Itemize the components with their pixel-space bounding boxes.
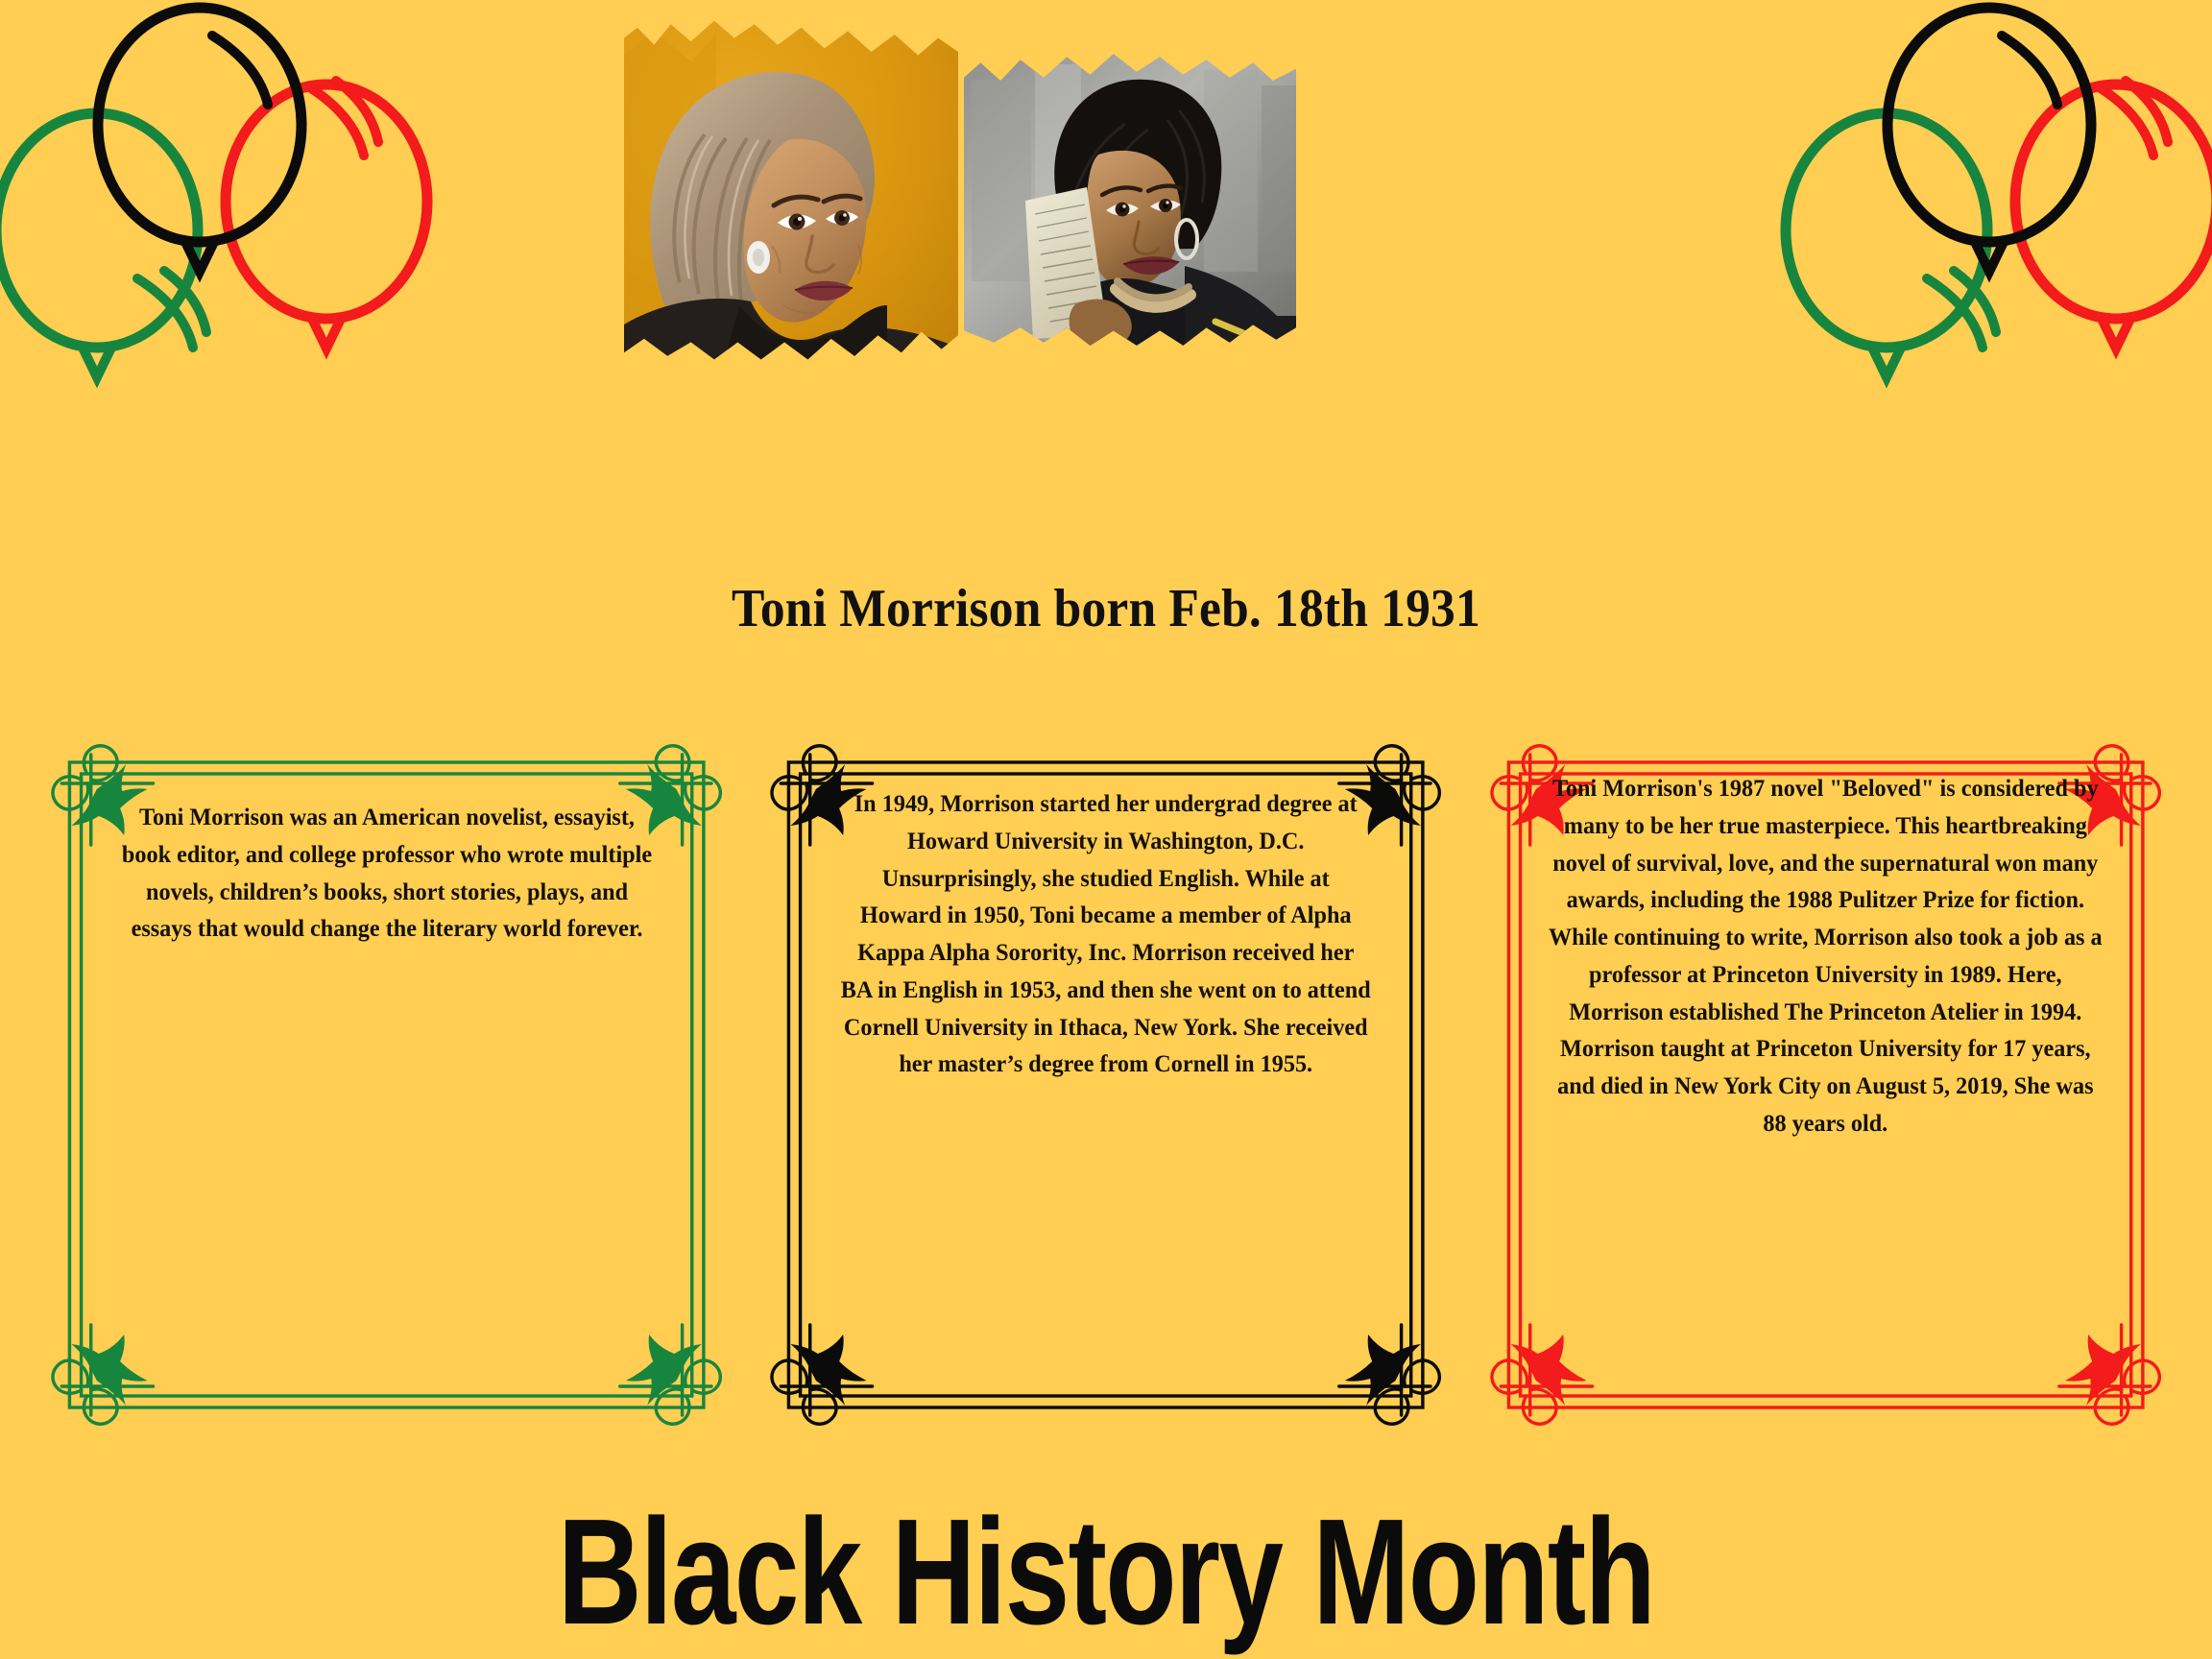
info-box-row: Toni Morrison was an American novelist, … [36, 730, 2176, 1440]
page-title: Toni Morrison born Feb. 18th 1931 [88, 578, 2124, 639]
banner-title: Black History Month [199, 1498, 2012, 1648]
info-box-text: Toni Morrison's 1987 novel "Beloved" is … [1546, 770, 2104, 1142]
balloon-cluster-left [0, 0, 440, 451]
info-box-beloved-legacy: Toni Morrison's 1987 novel "Beloved" is … [1476, 730, 2176, 1440]
info-box-text: Toni Morrison was an American novelist, … [114, 799, 660, 948]
balloon-cluster-right [1778, 0, 2212, 451]
info-box-education: In 1949, Morrison started her undergrad … [756, 730, 1455, 1440]
poster-canvas: Toni Morrison born Feb. 18th 1931 [0, 0, 2212, 1659]
toni-morrison-portrait-young [964, 51, 1296, 349]
info-box-text: In 1949, Morrison started her undergrad … [840, 785, 1372, 1083]
toni-morrison-portrait-elder [624, 17, 958, 363]
info-box-biography: Toni Morrison was an American novelist, … [36, 730, 736, 1440]
balloon-red-icon [226, 81, 427, 349]
photo-strip [624, 17, 1296, 363]
balloon-red-icon [2015, 81, 2212, 349]
